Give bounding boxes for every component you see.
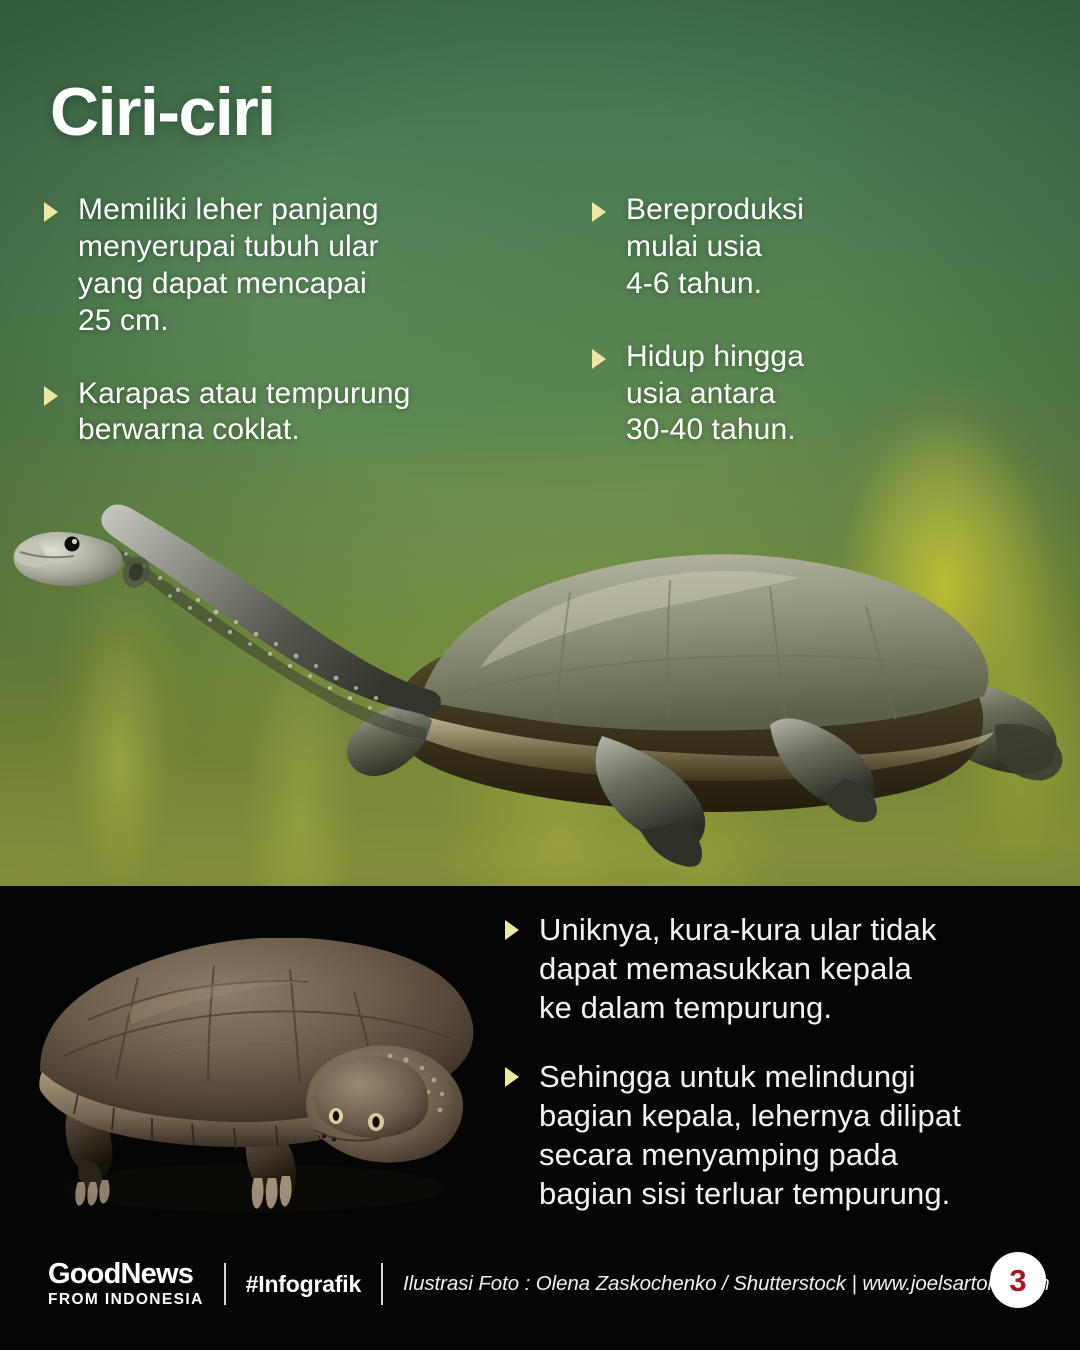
- list-item-label: Sehingga untuk melindungi bagian kepala,…: [539, 1057, 961, 1213]
- footer-divider-1: [224, 1263, 226, 1305]
- list-item: Uniknya, kura-kura ular tidak dapat mema…: [505, 910, 1050, 1027]
- snake-necked-turtle-shell-photo: [18, 938, 488, 1223]
- page-number: 3: [1009, 1265, 1026, 1296]
- triangle-bullet-icon: [505, 920, 519, 940]
- list-item-label: Karapas atau tempurung berwarna coklat.: [78, 376, 410, 450]
- bullet-column-bottom: Uniknya, kura-kura ular tidak dapat mema…: [505, 910, 1050, 1243]
- list-item: Sehingga untuk melindungi bagian kepala,…: [505, 1057, 1050, 1213]
- hero-photo-section: Ciri-ciri Memiliki leher panjang menyeru…: [0, 0, 1080, 886]
- hashtag-label[interactable]: #Infografik: [246, 1271, 361, 1298]
- triangle-bullet-icon: [44, 202, 58, 222]
- list-item-label: Memiliki leher panjang menyerupai tubuh …: [78, 192, 379, 340]
- triangle-bullet-icon: [592, 202, 606, 222]
- footer-divider-2: [381, 1263, 383, 1305]
- list-item: Bereproduksi mulai usia 4-6 tahun.: [592, 192, 1022, 303]
- snake-necked-turtle-swimming-photo: [10, 500, 1080, 870]
- list-item-label: Bereproduksi mulai usia 4-6 tahun.: [626, 192, 804, 303]
- photo-credit: Ilustrasi Foto : Olena Zaskochenko / Shu…: [403, 1272, 1050, 1296]
- triangle-bullet-icon: [505, 1067, 519, 1087]
- list-item-label: Hidup hingga usia antara 30-40 tahun.: [626, 339, 804, 450]
- list-item-label: Uniknya, kura-kura ular tidak dapat mema…: [539, 910, 936, 1027]
- triangle-bullet-icon: [44, 386, 58, 406]
- brand-logo[interactable]: GoodNews FROM INDONESIA: [48, 1260, 204, 1308]
- list-item: Karapas atau tempurung berwarna coklat.: [44, 376, 544, 450]
- list-item: Hidup hingga usia antara 30-40 tahun.: [592, 339, 1022, 450]
- bullet-column-right: Bereproduksi mulai usia 4-6 tahun. Hidup…: [592, 192, 1022, 485]
- infographic-slide: Ciri-ciri Memiliki leher panjang menyeru…: [0, 0, 1080, 1350]
- footer-bar: GoodNews FROM INDONESIA #Infografik Ilus…: [0, 1253, 1080, 1315]
- brand-logo-primary: GoodNews: [48, 1260, 204, 1289]
- bullet-column-left: Memiliki leher panjang menyerupai tubuh …: [44, 192, 544, 485]
- brand-logo-secondary: FROM INDONESIA: [48, 1292, 204, 1308]
- triangle-bullet-icon: [592, 349, 606, 369]
- list-item: Memiliki leher panjang menyerupai tubuh …: [44, 192, 544, 340]
- page-number-badge: 3: [990, 1252, 1046, 1308]
- page-title: Ciri-ciri: [50, 78, 275, 146]
